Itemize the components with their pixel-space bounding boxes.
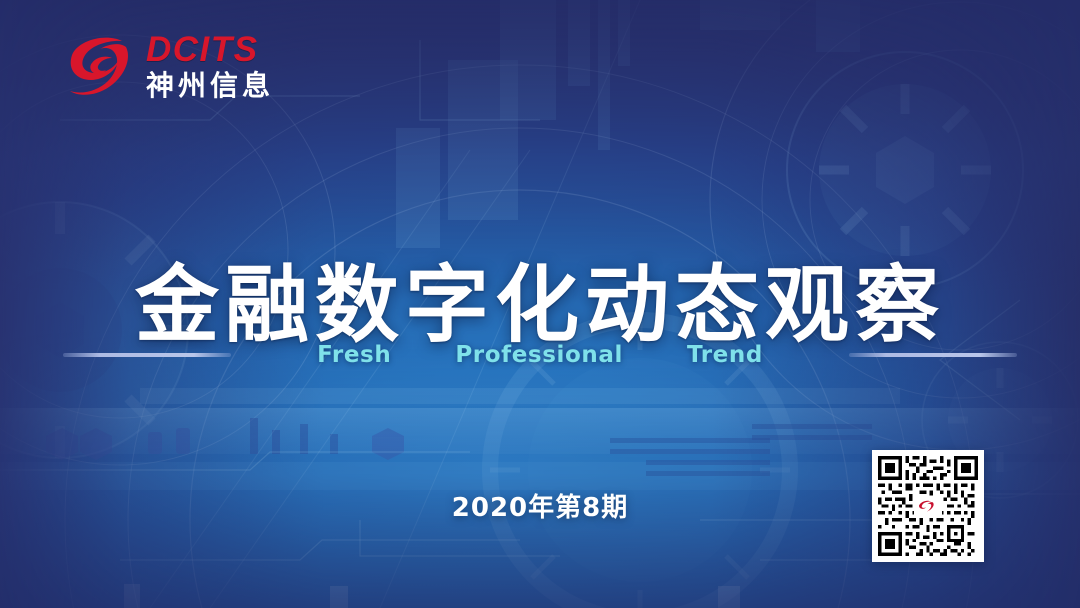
- tagline-trend: Trend: [655, 342, 795, 368]
- poster-canvas: DCITS 神州信息 金融数字化动态观察 Fresh Professional …: [0, 0, 1080, 608]
- brand-name-cn: 神州信息: [146, 72, 274, 100]
- tagline-professional: Professional: [423, 342, 655, 368]
- divider-right: [849, 353, 1017, 357]
- tagline-row: Fresh Professional Trend: [0, 338, 1080, 372]
- qr-code[interactable]: [872, 450, 984, 562]
- dcits-mini-logo-icon: [914, 496, 942, 517]
- qr-canvas: [878, 456, 978, 556]
- tagline-fresh: Fresh: [285, 342, 423, 368]
- divider-left: [63, 353, 231, 357]
- dcits-swoosh-icon: [62, 33, 136, 99]
- brand-wordmark: DCITS: [146, 32, 274, 67]
- brand-logo: DCITS 神州信息: [62, 32, 274, 100]
